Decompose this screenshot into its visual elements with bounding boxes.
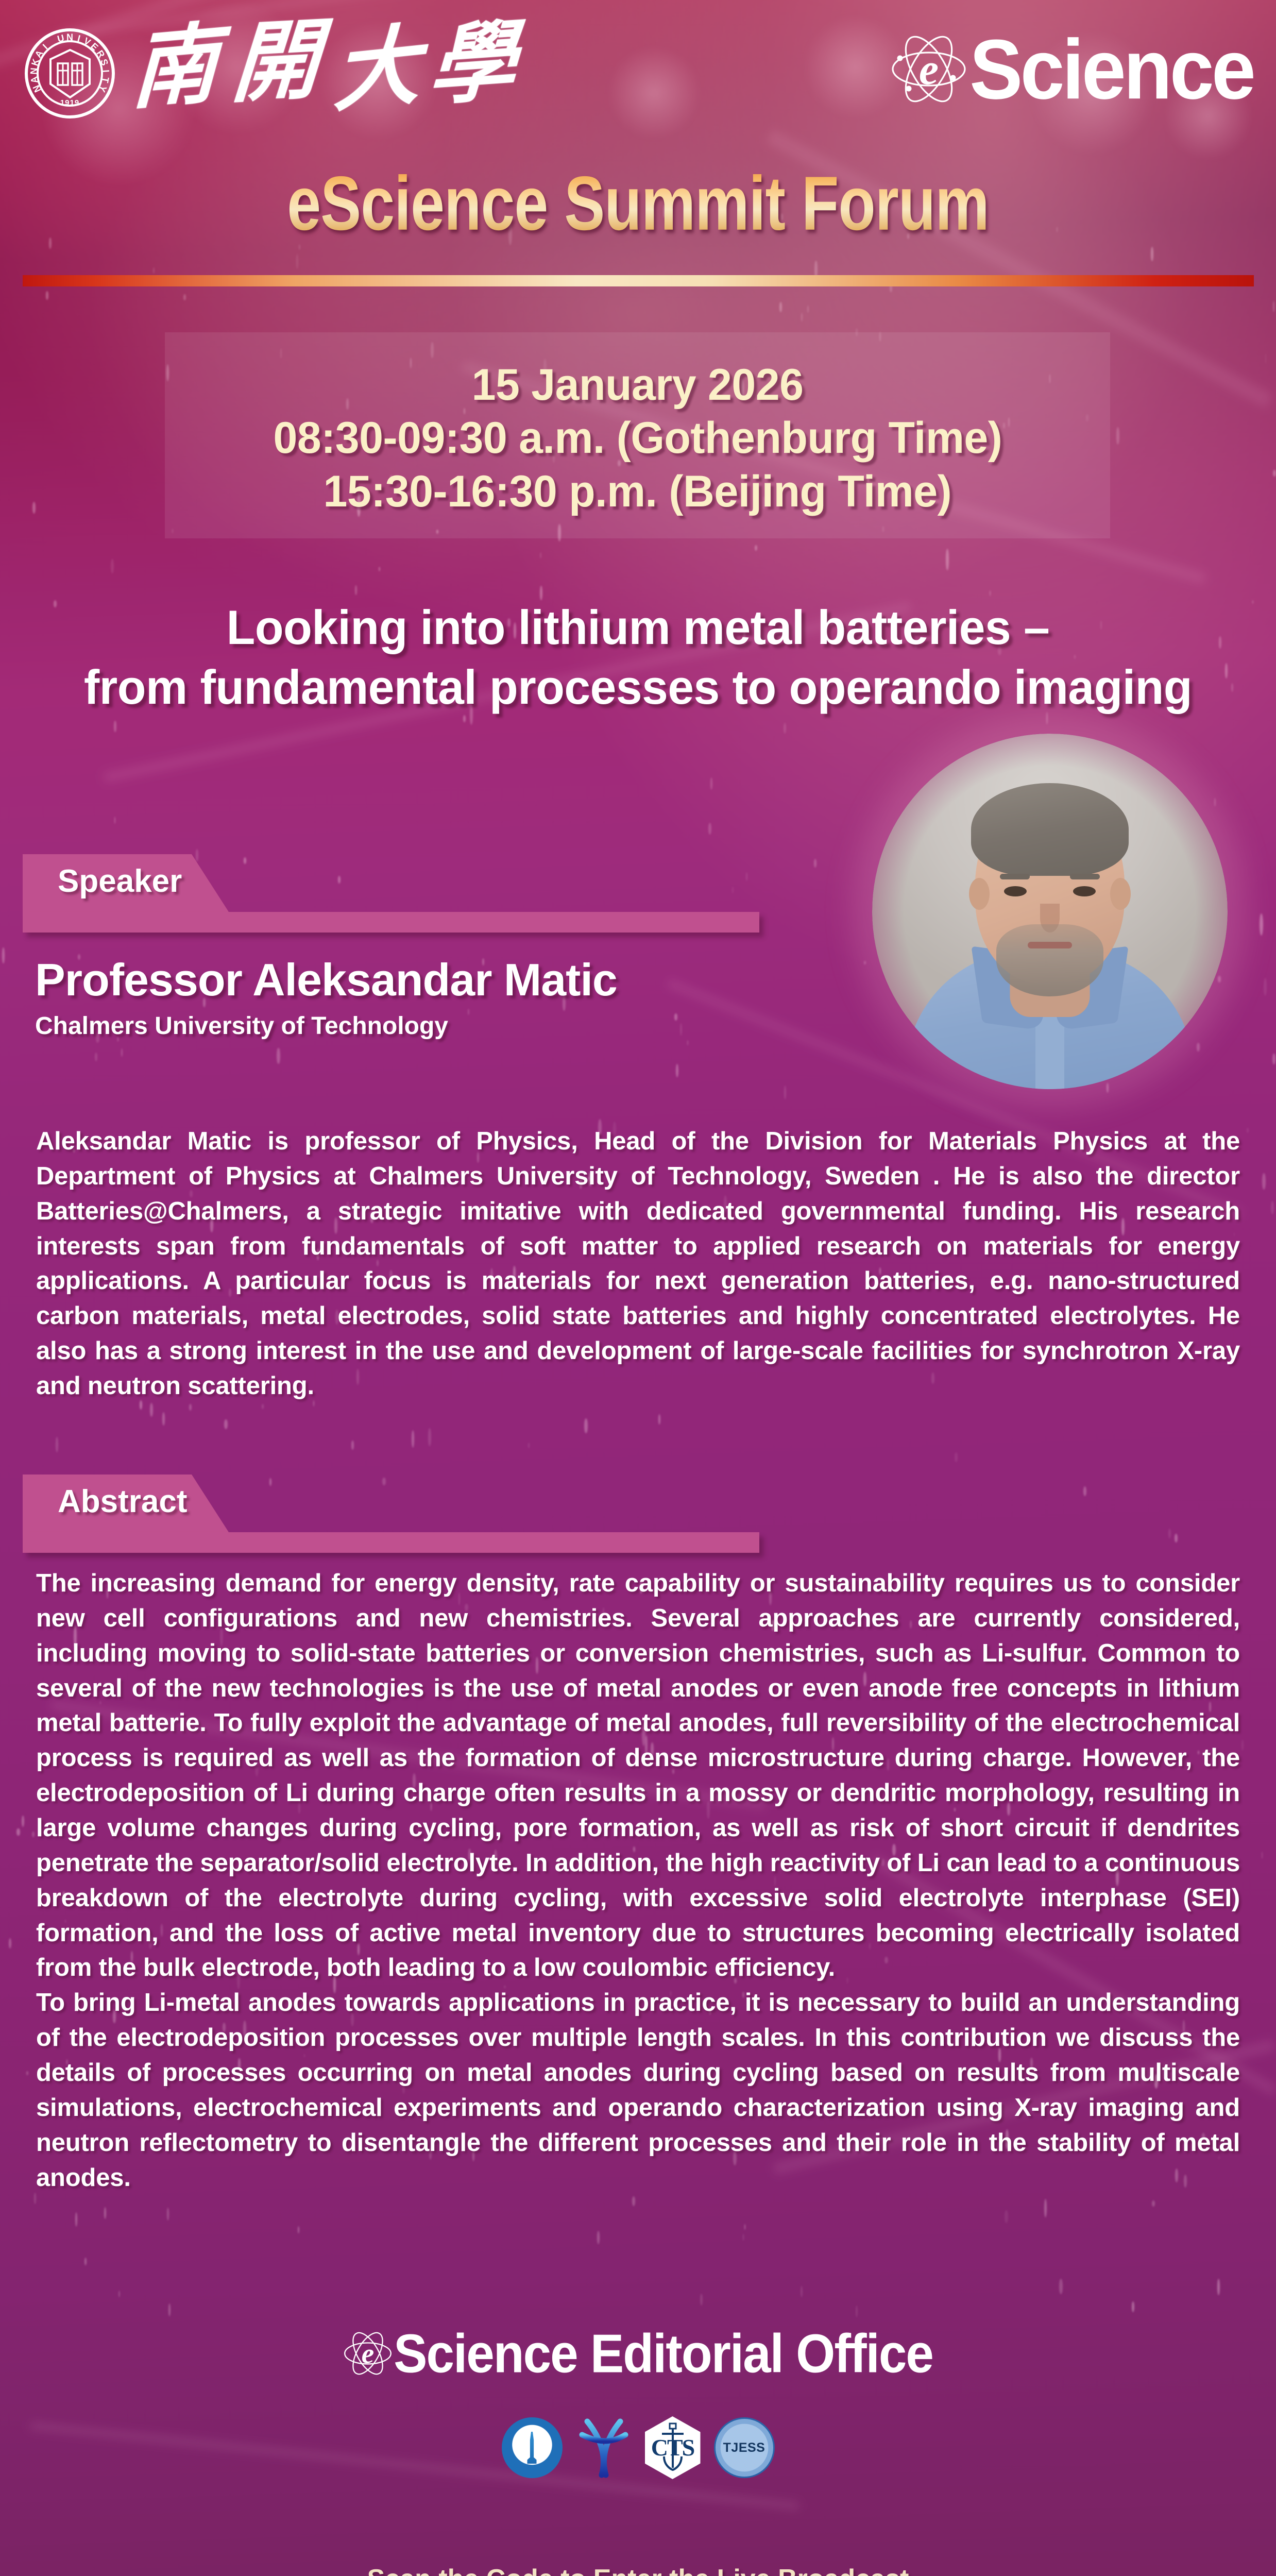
- abstract-paragraph-1: The increasing demand for energy density…: [36, 1566, 1240, 1986]
- talk-title-line-2: from fundamental processes to operando i…: [39, 657, 1237, 717]
- atom-icon: e: [890, 30, 967, 108]
- scan-instruction-label: Scan the Code to Enter the Live Broadcas…: [0, 2566, 1276, 2576]
- escience-wordmark: Science: [969, 27, 1253, 111]
- editorial-office-logo: e Science Editorial Office: [0, 2328, 1276, 2379]
- title-divider: [23, 275, 1254, 286]
- abstract-text: The increasing demand for energy density…: [36, 1566, 1240, 2195]
- speaker-name: Professor Aleksandar Matic: [35, 957, 617, 1003]
- svg-text:e: e: [362, 2338, 374, 2369]
- university-chinese-calligraphy: 南開大學: [131, 20, 528, 133]
- speaker-photo: [872, 734, 1228, 1089]
- abstract-paragraph-2: To bring Li-metal anodes towards applica…: [36, 1986, 1240, 2195]
- poster-canvas: NANKAI UNIVERSITY 1919 南開大學 e Scienc: [0, 0, 1276, 2576]
- talk-title: Looking into lithium metal batteries – f…: [39, 598, 1237, 717]
- tjess-wordmark: TJESS: [723, 2442, 765, 2454]
- talk-title-line-1: Looking into lithium metal batteries –: [39, 598, 1237, 657]
- anchor-icon: [660, 2422, 686, 2472]
- org-logo-cts: CTS: [645, 2416, 701, 2479]
- org-logo-tjess: TJESS: [714, 2417, 775, 2478]
- organisation-logo-row: CTS TJESS: [0, 2416, 1276, 2479]
- schedule-date: 15 January 2026: [472, 359, 804, 412]
- seal-year: 1919: [60, 98, 79, 107]
- abstract-banner: Abstract: [23, 1475, 764, 1553]
- speaker-affiliation: Chalmers University of Technology: [35, 1014, 448, 1039]
- speaker-banner: Speaker: [23, 854, 764, 933]
- speaker-bio-text: Aleksandar Matic is professor of Physics…: [36, 1124, 1240, 1404]
- org-logo-state-key-laboratory: [502, 2417, 563, 2478]
- forum-title: eScience Summit Forum: [38, 165, 1237, 242]
- editorial-office-wordmark: Science Editorial Office: [394, 2326, 933, 2381]
- abstract-banner-label: Abstract: [58, 1486, 188, 1518]
- nankai-university-seal-icon: NANKAI UNIVERSITY 1919: [25, 28, 115, 118]
- schedule-time-beijing: 15:30-16:30 p.m. (Beijing Time): [324, 465, 952, 518]
- schedule-box: 15 January 2026 08:30-09:30 a.m. (Gothen…: [165, 332, 1110, 538]
- org-logo-nankai-emblem: [576, 2417, 632, 2478]
- speaker-banner-label: Speaker: [58, 866, 182, 897]
- atom-icon-small: e: [343, 2329, 393, 2378]
- escience-logo: e Science: [890, 18, 1253, 121]
- speaker-bio-paragraph: Aleksandar Matic is professor of Physics…: [36, 1124, 1240, 1404]
- svg-text:e: e: [919, 44, 939, 94]
- poster-header: NANKAI UNIVERSITY 1919 南開大學 e Scienc: [0, 0, 1276, 155]
- schedule-time-local: 08:30-09:30 a.m. (Gothenburg Time): [273, 412, 1002, 465]
